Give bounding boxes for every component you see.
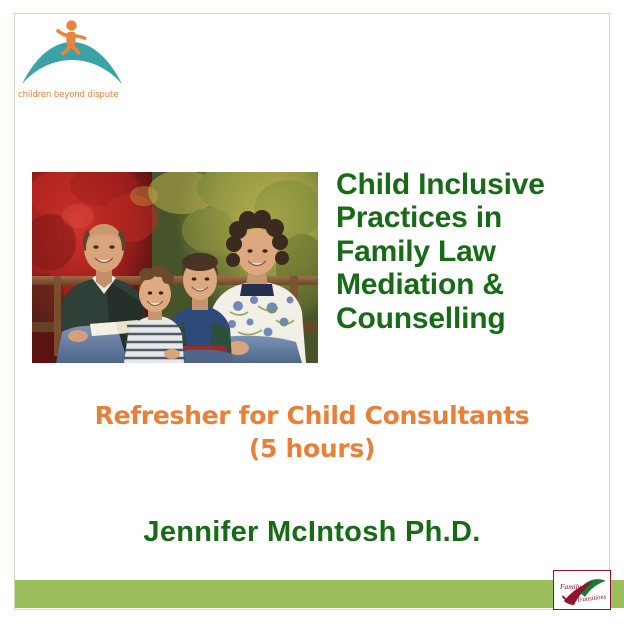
cbd-logo-tagline: children beyond dispute	[18, 90, 130, 100]
cbd-logo-icon	[16, 16, 128, 90]
bottom-accent-band	[15, 580, 624, 608]
title-line-4: Mediation &	[336, 268, 608, 301]
children-beyond-dispute-logo: children beyond dispute	[16, 16, 128, 108]
ft-word-family: Family	[559, 582, 582, 591]
author-name: Jennifer McIntosh Ph.D.	[22, 516, 602, 549]
title-line-5: Counselling	[336, 302, 608, 335]
subtitle-line-2: (5 hours)	[22, 432, 602, 465]
page-title: Child Inclusive Practices in Family Law …	[336, 168, 608, 335]
family-photo	[32, 172, 318, 363]
slide-canvas: children beyond dispute	[0, 0, 624, 624]
page-subtitle: Refresher for Child Consultants (5 hours…	[22, 399, 602, 465]
subtitle-line-1: Refresher for Child Consultants	[22, 399, 602, 432]
title-line-2: Practices in	[336, 201, 608, 234]
title-line-1: Child Inclusive	[336, 168, 608, 201]
title-line-3: Family Law	[336, 235, 608, 268]
family-transitions-logo: Family Transitions	[553, 570, 611, 610]
